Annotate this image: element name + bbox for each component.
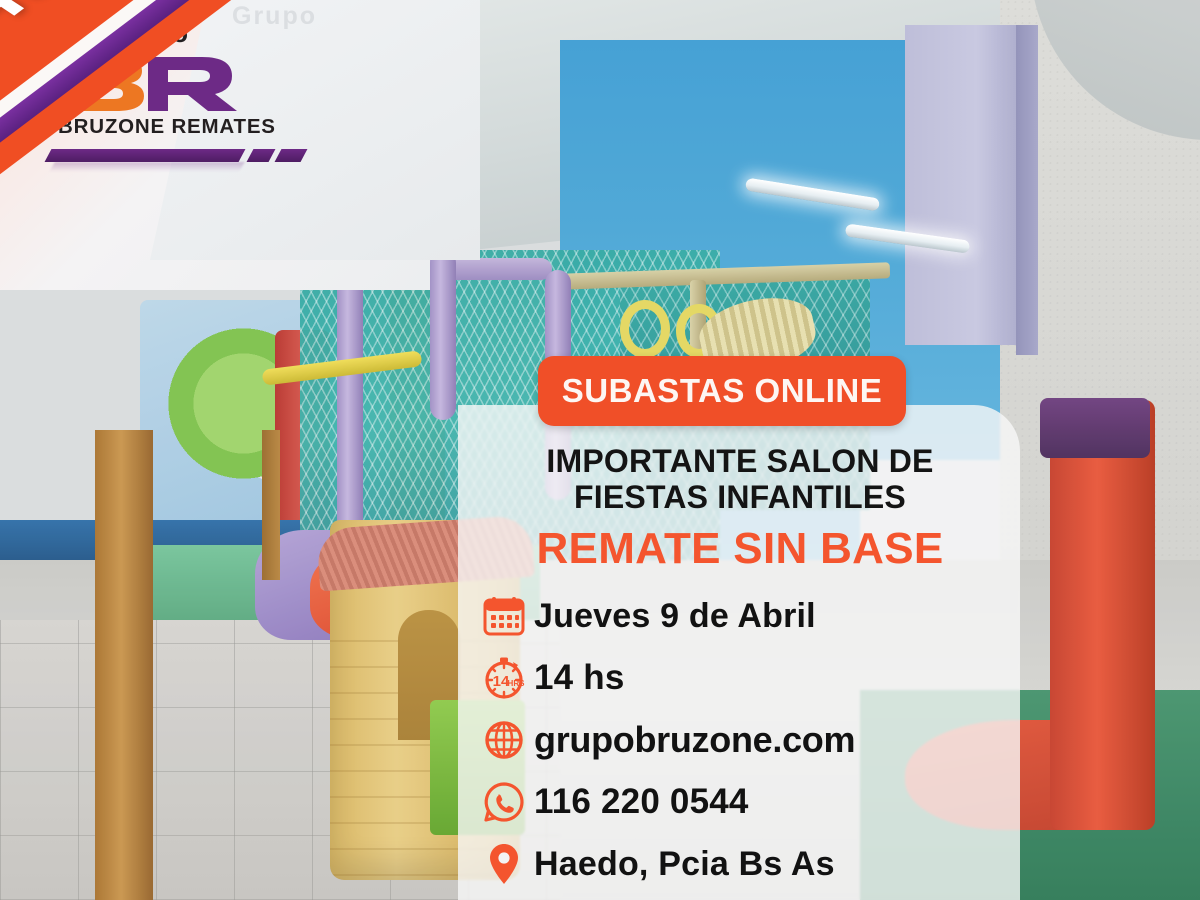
globe-icon bbox=[474, 718, 534, 762]
flyer-canvas: Grupo Grupo BRUZONE REMATES REMATES GAST… bbox=[0, 0, 1200, 900]
detail-row-date: Jueves 9 de Abril bbox=[474, 585, 1014, 647]
detail-value-location: Haedo, Pcia Bs As bbox=[534, 845, 835, 884]
logo-accent-bar bbox=[48, 149, 316, 173]
detail-value-whatsapp: 116 220 0544 bbox=[534, 782, 749, 822]
subastas-online-badge[interactable]: SUBASTAS ONLINE bbox=[538, 356, 906, 426]
detail-value-date: Jueves 9 de Abril bbox=[534, 597, 816, 636]
logo-grupo-text: Grupo bbox=[100, 18, 316, 49]
brand-logo: Grupo BRUZONE REMATES bbox=[56, 18, 316, 173]
detail-value-website: grupobruzone.com bbox=[534, 719, 855, 761]
detail-row-whatsapp[interactable]: 116 220 0544 bbox=[474, 771, 1014, 833]
event-details-list: Jueves 9 de Abril bbox=[474, 585, 1014, 895]
stopwatch-14hrs-icon: 14 HRS bbox=[474, 655, 534, 701]
logo-company-name: BRUZONE REMATES bbox=[58, 115, 316, 139]
event-headline: IMPORTANTE SALON DE FIESTAS INFANTILES bbox=[470, 444, 1010, 516]
headline-line-2: FIESTAS INFANTILES bbox=[470, 480, 1010, 516]
detail-row-time: 14 HRS 14 hs bbox=[474, 647, 1014, 709]
subastas-online-label: SUBASTAS ONLINE bbox=[562, 372, 882, 410]
location-pin-icon bbox=[474, 841, 534, 887]
calendar-icon bbox=[474, 594, 534, 638]
br-monogram-icon bbox=[56, 51, 316, 113]
headline-line-1: IMPORTANTE SALON DE bbox=[470, 444, 1010, 480]
detail-value-time: 14 hs bbox=[534, 658, 625, 698]
svg-text:HRS: HRS bbox=[508, 679, 526, 688]
event-subheadline: REMATE SIN BASE bbox=[470, 524, 1010, 574]
detail-row-website[interactable]: grupobruzone.com bbox=[474, 709, 1014, 771]
detail-row-location: Haedo, Pcia Bs As bbox=[474, 833, 1014, 895]
whatsapp-icon bbox=[474, 780, 534, 824]
